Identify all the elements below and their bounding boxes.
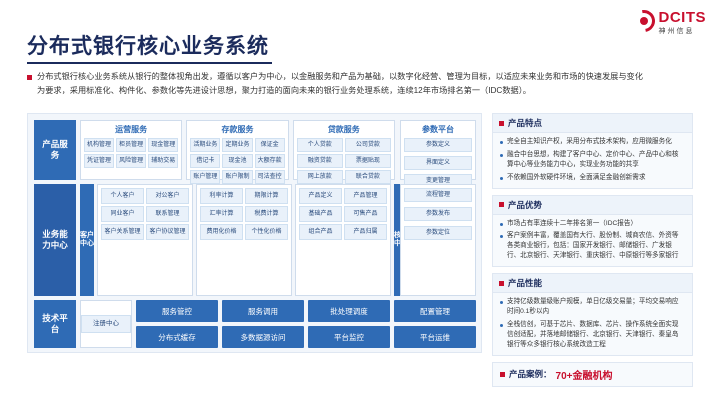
service-column-loan: 贷款服务 个人贷款 公司贷款 融资贷款 票据贴现 网上放款 联合贷款 [293,120,395,180]
brand-name-en: DCITS [659,10,707,25]
chip[interactable]: 账户限制 [222,170,252,184]
param-platform-top: 参数平台 参数定义 界面定义 变更管理 [400,120,476,180]
tech-cell[interactable]: 服务管控 [136,300,218,322]
tech-grid: 服务管控 服务调用 批处理调度 配置管理 分布式缓存 多数据源访问 平台监控 平… [136,300,476,348]
chip[interactable]: 费用化价格 [200,224,243,240]
layer-rail: 产品服务 业务能力中心 技术平台 [34,120,76,348]
list-item: 市场占有率连续十二年排名第一（IDC报告） [500,219,685,229]
tech-cell[interactable]: 平台运维 [394,326,476,348]
chip[interactable]: 利率计算 [200,188,243,204]
bullet-square-icon [499,202,504,207]
list-item: 全栈信创，可基于芯片、数据库、芯片、操作系统全面实现信创适配，并落地邮储银行、北… [500,320,685,350]
chip[interactable]: 司法查控 [255,170,285,184]
chip[interactable]: 客户关系管理 [101,224,144,240]
list-item-text: 全栈信创，可基于芯片、数据库、芯片、操作系统全面实现信创适配，并落地邮储银行、北… [507,320,685,350]
service-column-title: 运营服务 [84,124,178,135]
panel-body: 支持亿级数量级账户规模，单日亿级交易量；平均交易响应时间0.1秒以内 全栈信创，… [493,293,692,354]
bullet-square-icon [500,372,505,377]
chip[interactable]: 定期业务 [222,138,252,152]
right-panels: 产品特点 完全自主知识产权，采用分布式技术架构，应用微服务化 融合中台思想，构建… [492,113,693,387]
chip[interactable]: 注册中心 [81,315,131,334]
list-item-text: 融合中台思想，构建了客户中心、定价中心、产品中心和核算中心等业务能力中心，实现业… [507,150,685,170]
rail-capability-center: 业务能力中心 [34,184,76,296]
tech-cell[interactable]: 多数据源访问 [222,326,304,348]
case-label: 产品案例： [509,368,552,380]
chip[interactable]: 保证金 [255,138,285,152]
chip[interactable]: 税费计算 [245,206,288,222]
intro-block: 分布式银行核心业务系统从银行的整体视角出发，遵循以客户为中心，以金融服务和产品为… [27,70,693,97]
panel-product-performance: 产品性能 支持亿级数量级账户规模，单日亿级交易量；平均交易响应时间0.1秒以内 … [492,273,693,355]
chip[interactable]: 凭证管理 [84,154,114,168]
chip[interactable]: 柜员管理 [116,138,146,152]
rail-product-service: 产品服务 [34,120,76,180]
bullet-dot-icon [500,235,503,238]
brand-name-cn: 神州信息 [659,28,707,35]
bullet-square-icon [27,75,32,80]
chip[interactable]: 网上放款 [297,170,343,184]
chip[interactable]: 机构管理 [84,138,114,152]
capability-box-product: 产品定义 产品管理 基础产品 可售产品 组合产品 产品归属 [295,184,391,296]
panel-title: 产品特点 [508,117,542,129]
panel-product-advantages: 产品优势 市场占有率连续十二年排名第一（IDC报告） 客户案例丰富，覆盖国有大行… [492,195,693,268]
rail-tech-platform: 技术平台 [34,300,76,348]
chip[interactable]: 对公客户 [146,188,189,204]
capability-box-customer: 个人客户 对公客户 同业客户 联系管理 客户关系管理 客户协议管理 [97,184,193,296]
chip[interactable]: 汇率计算 [200,206,243,222]
service-column-deposit: 存款服务 活期业务 定期业务 保证金 借记卡 现金池 大额存款 账户管理 账户限… [186,120,288,180]
chip[interactable]: 联系管理 [146,206,189,222]
chip[interactable]: 个人客户 [101,188,144,204]
panel-case-count: 产品案例： 70+金融机构 [492,362,693,387]
list-item-text: 支持亿级数量级账户规模，单日亿级交易量；平均交易响应时间0.1秒以内 [507,297,685,317]
rail-customer-center: 客户中心 [80,184,94,296]
bullet-dot-icon [500,177,503,180]
chip[interactable]: 界面定义 [404,156,472,170]
bullet-dot-icon [500,223,503,226]
brand-logo: DCITS 神州信息 [633,10,707,35]
tech-cell[interactable]: 分布式缓存 [136,326,218,348]
intro-line-2: 为要求，采用标准化、构件化、参数化等先进设计思想，聚力打造的面向未来的银行业务处… [37,84,693,98]
service-column-operation: 运营服务 机构管理 柜员管理 现金管理 凭证管理 风险管理 辅助交易 [80,120,182,180]
capability-box-pricing: 利率计算 期限计算 汇率计算 税费计算 费用化价格 个性化价格 [196,184,292,296]
bullet-dot-icon [500,141,503,144]
chip[interactable]: 融资贷款 [297,154,343,168]
chip[interactable]: 流程管理 [404,188,472,202]
chip[interactable]: 现金管理 [148,138,178,152]
panel-body: 市场占有率连续十二年排名第一（IDC报告） 客户案例丰富，覆盖国有大行、股份制、… [493,215,692,267]
chip[interactable]: 参数发布 [404,207,472,221]
chip[interactable]: 产品管理 [344,188,387,204]
chip[interactable]: 个人贷款 [297,138,343,152]
chip[interactable]: 借记卡 [190,154,220,168]
tech-cell[interactable]: 配置管理 [394,300,476,322]
list-item: 完全自主知识产权，采用分布式技术架构，应用微服务化 [500,137,685,147]
chip[interactable]: 联合贷款 [345,170,391,184]
tech-cell[interactable]: 平台监控 [308,326,390,348]
chip[interactable]: 风险管理 [116,154,146,168]
list-item: 支持亿级数量级账户规模，单日亿级交易量；平均交易响应时间0.1秒以内 [500,297,685,317]
list-item-text: 市场占有率连续十二年排名第一（IDC报告） [507,219,637,229]
chip[interactable]: 个性化价格 [245,224,288,240]
bullet-square-icon [499,281,504,286]
list-item-text: 完全自主知识产权，采用分布式技术架构，应用微服务化 [507,137,672,147]
panel-product-features: 产品特点 完全自主知识产权，采用分布式技术架构，应用微服务化 融合中台思想，构建… [492,113,693,189]
bullet-dot-icon [500,154,503,157]
bullet-dot-icon [500,324,503,327]
slide-page: DCITS 神州信息 分布式银行核心业务系统 分布式银行核心业务系统从银行的整体… [0,0,720,405]
list-item: 不依赖国外软硬件环境，全面满足金融创新需求 [500,173,685,183]
panel-header: 产品特点 [493,114,692,133]
panel-header: 产品性能 [493,274,692,293]
chip[interactable]: 期限计算 [245,188,288,204]
registry-center: 注册中心 [80,300,132,348]
chip[interactable]: 参数定位 [404,226,472,240]
chip[interactable]: 活期业务 [190,138,220,152]
chip[interactable]: 公司贷款 [345,138,391,152]
param-platform-bottom: 流程管理 参数发布 参数定位 [400,184,476,296]
tech-cell[interactable]: 服务调用 [222,300,304,322]
chip[interactable]: 可售产品 [344,206,387,222]
tech-cell[interactable]: 批处理调度 [308,300,390,322]
panel-title: 产品性能 [508,277,542,289]
bullet-square-icon [499,121,504,126]
chip[interactable]: 辅助交易 [148,154,178,168]
bullet-dot-icon [500,301,503,304]
chip[interactable]: 现金池 [222,154,252,168]
service-column-title: 贷款服务 [297,124,391,135]
page-title: 分布式银行核心业务系统 [27,30,269,60]
list-item-text: 客户案例丰富，覆盖国有大行、股份制、城商农信、外资等各类商业银行，包括：国家开发… [507,231,685,261]
chip[interactable]: 账户管理 [190,170,220,184]
title-underline [27,62,272,64]
architecture-diagram: 产品服务 业务能力中心 技术平台 运营服务 机构管理 柜员管理 现金管理 凭证管… [27,113,482,353]
param-platform-title: 参数平台 [404,124,472,135]
list-item-text: 不依赖国外软硬件环境，全面满足金融创新需求 [507,173,645,183]
chip[interactable]: 组合产品 [299,224,342,240]
service-column-title: 存款服务 [190,124,284,135]
case-value: 70+金融机构 [556,367,613,382]
dcits-logo-icon [633,10,655,32]
panel-title: 产品优势 [508,199,542,211]
tech-band: 注册中心 服务管控 服务调用 批处理调度 配置管理 分布式缓存 多数据源访问 平… [80,300,476,348]
panel-body: 完全自主知识产权，采用分布式技术架构，应用微服务化 融合中台思想，构建了客户中心… [493,133,692,188]
panel-header: 产品优势 [493,196,692,215]
chip[interactable]: 同业客户 [101,206,144,222]
list-item: 融合中台思想，构建了客户中心、定价中心、产品中心和核算中心等业务能力中心，实现业… [500,150,685,170]
chip[interactable]: 客户协议管理 [146,224,189,240]
service-band: 运营服务 机构管理 柜员管理 现金管理 凭证管理 风险管理 辅助交易 存款服务 … [80,120,395,180]
chip[interactable]: 产品定义 [299,188,342,204]
intro-line-1: 分布式银行核心业务系统从银行的整体视角出发，遵循以客户为中心，以金融服务和产品为… [37,70,643,84]
list-item: 客户案例丰富，覆盖国有大行、股份制、城商农信、外资等各类商业银行，包括：国家开发… [500,231,685,261]
chip[interactable]: 参数定义 [404,138,472,152]
chip[interactable]: 基础产品 [299,206,342,222]
chip[interactable]: 票据贴现 [345,154,391,168]
chip[interactable]: 大额存款 [255,154,285,168]
chip[interactable]: 产品归属 [344,224,387,240]
brand-text: DCITS 神州信息 [659,10,707,35]
